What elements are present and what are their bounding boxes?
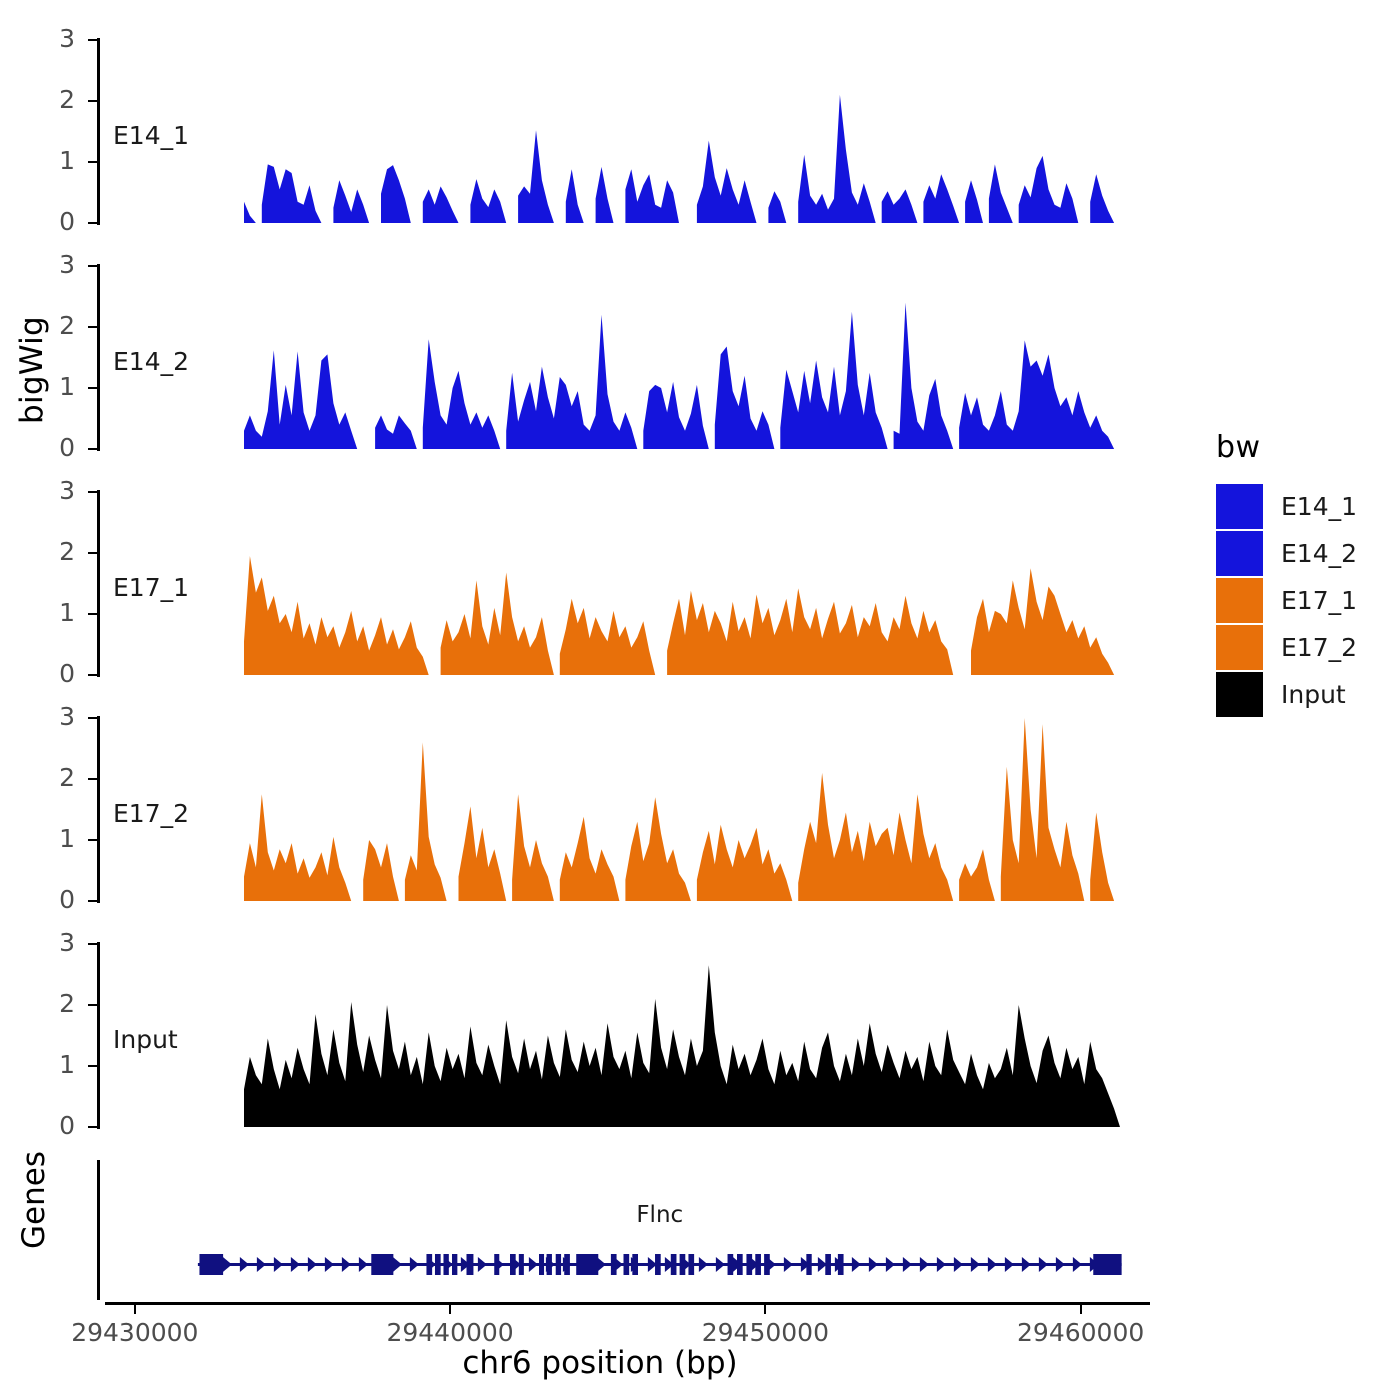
legend-label-e17_2: E17_2: [1281, 633, 1357, 662]
legend-swatch-e17_1: [1216, 578, 1263, 623]
x-tick-label: 29450000: [655, 1320, 875, 1345]
legend-title: bw: [1216, 430, 1357, 465]
x-tick: [1080, 1305, 1082, 1314]
legend-label-e14_1: E14_1: [1281, 492, 1357, 521]
x-tick-label: 29430000: [25, 1320, 245, 1345]
gene-model-flnc[interactable]: [0, 1242, 1150, 1286]
legend-label-e17_1: E17_1: [1281, 586, 1357, 615]
x-tick: [764, 1305, 766, 1314]
legend-label-input: Input: [1281, 680, 1346, 709]
track-area-input: [0, 944, 1150, 1130]
gene-label-flnc: Flnc: [550, 1202, 770, 1228]
legend-item-e14_1[interactable]: E14_1: [1216, 483, 1357, 530]
legend-swatch-input: [1216, 672, 1263, 717]
x-tick: [449, 1305, 451, 1314]
x-axis-line: [105, 1302, 1150, 1305]
track-area-e17_2: [0, 718, 1150, 904]
x-tick: [134, 1305, 136, 1314]
x-tick-label: 29460000: [971, 1320, 1191, 1345]
legend: bw E14_1E14_2E17_1E17_2Input: [1216, 430, 1357, 718]
legend-swatch-e14_1: [1216, 484, 1263, 529]
x-tick-label: 29440000: [340, 1320, 560, 1345]
legend-item-input[interactable]: Input: [1216, 671, 1357, 718]
legend-label-e14_2: E14_2: [1281, 539, 1357, 568]
legend-item-e17_2[interactable]: E17_2: [1216, 624, 1357, 671]
track-area-e14_2: [0, 266, 1150, 452]
legend-item-e17_1[interactable]: E17_1: [1216, 577, 1357, 624]
x-axis-title: chr6 position (bp): [0, 1345, 1200, 1381]
legend-item-e14_2[interactable]: E14_2: [1216, 530, 1357, 577]
legend-swatch-e14_2: [1216, 531, 1263, 576]
track-area-e14_1: [0, 40, 1150, 226]
track-area-e17_1: [0, 492, 1150, 678]
legend-swatch-e17_2: [1216, 625, 1263, 670]
